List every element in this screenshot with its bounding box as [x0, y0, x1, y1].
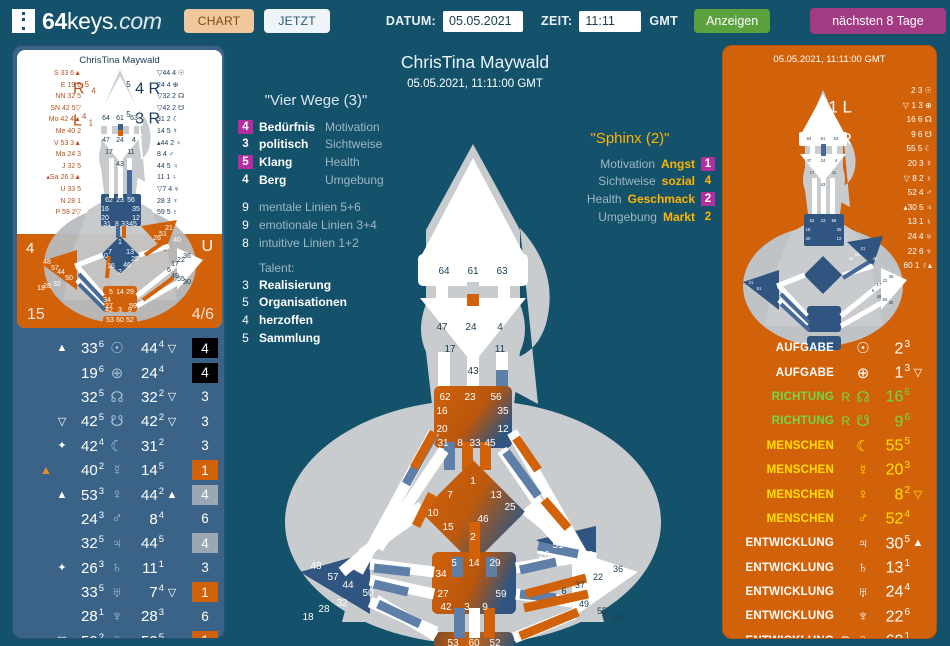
- table-row[interactable]: RICHTUNGR☊166: [733, 385, 926, 409]
- row-planet-glyph: ♅: [850, 584, 876, 601]
- row-planet-glyph: ♄: [104, 559, 130, 576]
- row-right-gate: 422: [130, 412, 164, 430]
- svg-text:17: 17: [171, 261, 179, 268]
- svg-text:42: 42: [105, 307, 113, 314]
- row-label: RICHTUNG: [733, 391, 834, 403]
- row-planet-glyph: ♂: [850, 510, 876, 527]
- table-row[interactable]: 243♂846: [19, 507, 218, 531]
- row-right-marker: ▽: [164, 586, 180, 599]
- svg-text:28: 28: [318, 604, 330, 615]
- row-right-gate: 74: [130, 583, 164, 601]
- left-mini-right-row: ▴44 2 ♀: [157, 138, 217, 150]
- svg-text:55: 55: [597, 606, 607, 616]
- left-chart-profile-right: 5 4 R5 3 R: [126, 72, 160, 133]
- svg-text:9: 9: [482, 602, 488, 613]
- row-planet-glyph: ☋: [850, 412, 876, 430]
- svg-text:23: 23: [116, 197, 124, 204]
- row-left-marker: ▽: [54, 415, 70, 428]
- hexagram-lines-icon: [12, 9, 35, 33]
- table-row[interactable]: ENTWICKLUNG♅244: [733, 580, 926, 604]
- svg-text:27: 27: [437, 589, 449, 600]
- right-mini-row: 20 3 ☿: [852, 157, 932, 172]
- svg-text:16: 16: [436, 406, 448, 417]
- left-mini-right-row: 44 5 ♃: [157, 161, 217, 173]
- time-input[interactable]: [579, 11, 641, 32]
- row-left-marker: ✦: [54, 561, 70, 574]
- row-value-box: 3: [192, 387, 218, 407]
- svg-text:47: 47: [436, 322, 448, 333]
- row-right-gate: 445: [130, 534, 164, 552]
- row-label: MENSCHEN: [733, 464, 834, 476]
- svg-text:61: 61: [116, 115, 124, 122]
- svg-text:30: 30: [889, 300, 894, 305]
- row-planet-glyph: ♄: [850, 559, 876, 576]
- row-value-box: 1: [192, 631, 218, 639]
- row-left-marker: ✦: [54, 439, 70, 452]
- svg-text:26: 26: [538, 550, 550, 561]
- left-mini-right-row: 24 4 ⊕: [157, 80, 217, 92]
- table-row[interactable]: ▲336☉444▽4: [19, 336, 218, 360]
- row-left-gate: 336: [70, 339, 104, 357]
- svg-text:2: 2: [470, 532, 476, 543]
- row-pre-marker: ▲: [38, 463, 54, 477]
- logo-text: 64keys.com: [42, 8, 162, 35]
- row-planet-glyph: ♃: [850, 535, 876, 552]
- logo-dim: .com: [113, 8, 162, 34]
- row-label: AUFGABE: [733, 367, 834, 379]
- svg-text:11: 11: [127, 149, 134, 156]
- svg-text:46: 46: [123, 262, 131, 269]
- svg-text:47: 47: [102, 137, 110, 144]
- svg-text:7: 7: [108, 249, 112, 256]
- right-transit-panel: 05.05.2021, 11:11:00 GMT: [722, 45, 937, 639]
- left-mini-right-row: 14 5 ☿: [157, 126, 217, 138]
- row-retrograde-marker: R: [834, 390, 850, 404]
- svg-text:30: 30: [613, 612, 623, 622]
- row-left-gate: 243: [70, 510, 104, 528]
- left-mini-right-row: ▽32 2 ☊: [157, 91, 217, 103]
- row-right-gate: 244: [130, 364, 164, 382]
- svg-text:5: 5: [109, 289, 113, 296]
- svg-text:13: 13: [126, 249, 134, 256]
- row-planet-glyph: ☾: [850, 437, 876, 455]
- logo-light: keys: [67, 8, 113, 34]
- table-row[interactable]: RICHTUNGR☋96: [733, 409, 926, 433]
- svg-text:23: 23: [821, 218, 826, 223]
- chart-tab-button[interactable]: CHART: [184, 9, 255, 33]
- row-planet-glyph: ☊: [850, 388, 876, 406]
- svg-text:35: 35: [497, 406, 509, 417]
- svg-text:14: 14: [116, 289, 124, 296]
- left-planet-table: ▲336☉444▽4196⊕2444325☊322▽3▽425☋422▽3✦42…: [13, 336, 224, 639]
- row-planet-glyph: ☾: [104, 437, 130, 455]
- row-value-box: 3: [192, 436, 218, 456]
- row-arrow-marker: ▲: [910, 537, 926, 549]
- svg-text:60: 60: [468, 638, 480, 646]
- svg-text:12: 12: [837, 236, 842, 241]
- left-chart-corner-bottom-right: 4/6: [192, 306, 214, 324]
- row-gate: 23: [876, 339, 910, 358]
- row-value-box: 1: [192, 460, 218, 480]
- svg-text:31: 31: [103, 221, 111, 228]
- svg-text:2: 2: [118, 269, 122, 276]
- row-gate: 166: [876, 387, 910, 406]
- row-label: AUFGABE: [733, 342, 834, 354]
- left-mini-left-row: J 32 5: [23, 161, 81, 173]
- svg-text:56: 56: [127, 197, 135, 204]
- row-right-gate: 111: [130, 559, 164, 577]
- table-row[interactable]: AUFGABE☉23: [733, 336, 926, 360]
- svg-text:11: 11: [495, 344, 506, 355]
- svg-text:20: 20: [436, 424, 448, 435]
- svg-text:37: 37: [575, 580, 585, 590]
- svg-text:36: 36: [889, 274, 894, 279]
- table-row[interactable]: 281♆2836: [19, 604, 218, 628]
- left-mini-right-row: ▽44 4 ☉: [157, 68, 217, 80]
- right-mini-row: 60 1 ♇▴: [852, 259, 932, 274]
- row-label: MENSCHEN: [733, 489, 834, 501]
- svg-text:45: 45: [129, 221, 137, 228]
- svg-text:11: 11: [832, 170, 837, 175]
- svg-text:31: 31: [437, 438, 449, 449]
- table-row[interactable]: ✦263♄1113: [19, 556, 218, 580]
- right-mini-row: ▴30 5 ♃: [852, 201, 932, 216]
- svg-text:43: 43: [467, 366, 479, 377]
- svg-text:17: 17: [444, 344, 456, 355]
- table-row[interactable]: ENTWICKLUNG♆226: [733, 604, 926, 628]
- svg-text:42: 42: [440, 602, 452, 613]
- table-row[interactable]: ▲402☿1451: [19, 458, 218, 482]
- svg-text:12: 12: [497, 424, 509, 435]
- table-row[interactable]: ▽592♇5951: [19, 629, 218, 639]
- svg-text:35: 35: [132, 206, 140, 213]
- right-planet-table: AUFGABE☉23AUFGABE⊕13▽RICHTUNGR☊166RICHTU…: [723, 336, 936, 639]
- row-left-marker: ▽: [54, 634, 70, 639]
- svg-text:21: 21: [749, 280, 754, 285]
- svg-text:33: 33: [469, 438, 481, 449]
- svg-text:29: 29: [489, 558, 501, 569]
- svg-text:32: 32: [336, 598, 348, 609]
- row-gate: 82: [876, 485, 910, 504]
- svg-text:13: 13: [490, 490, 502, 501]
- svg-text:52: 52: [126, 317, 134, 324]
- svg-text:26: 26: [153, 235, 161, 242]
- table-row[interactable]: 325♃4454: [19, 531, 218, 555]
- svg-text:36: 36: [613, 564, 623, 574]
- row-label: ENTWICKLUNG: [733, 586, 834, 598]
- svg-text:17: 17: [105, 149, 113, 156]
- row-right-marker: ▲: [164, 489, 180, 501]
- row-value-box: 4: [192, 533, 218, 553]
- table-row[interactable]: AUFGABE⊕13▽: [733, 360, 926, 384]
- right-profile-row: 6 4 R: [816, 122, 852, 154]
- right-mini-row: 13 1 ♄: [852, 215, 932, 230]
- table-row[interactable]: MENSCHEN☾555: [733, 434, 926, 458]
- right-mini-row: ▽ 8 2 ♀: [852, 172, 932, 187]
- svg-text:17: 17: [810, 170, 815, 175]
- date-input[interactable]: [443, 11, 523, 32]
- svg-text:5: 5: [451, 558, 457, 569]
- row-right-gate: 145: [130, 461, 164, 479]
- row-label: ENTWICKLUNG: [733, 610, 834, 622]
- row-gate: 96: [876, 412, 910, 431]
- table-row[interactable]: MENSCHEN☿203: [733, 458, 926, 482]
- row-value-box: 4: [192, 338, 218, 358]
- row-value-box: 6: [192, 606, 218, 626]
- svg-text:25: 25: [504, 502, 516, 513]
- row-planet-glyph: ☋: [104, 412, 130, 430]
- row-planet-glyph: ☉: [850, 339, 876, 357]
- svg-text:49: 49: [877, 294, 882, 299]
- anzeigen-button[interactable]: Anzeigen: [694, 9, 770, 33]
- svg-text:40: 40: [173, 237, 181, 244]
- row-left-gate: 335: [70, 583, 104, 601]
- svg-text:62: 62: [810, 218, 815, 223]
- svg-text:61: 61: [467, 266, 479, 277]
- next-8-days-button[interactable]: nächsten 8 Tage: [810, 8, 946, 34]
- svg-text:16: 16: [101, 206, 109, 213]
- row-gate: 203: [876, 460, 910, 479]
- table-row[interactable]: ENTWICKLUNG♄131: [733, 556, 926, 580]
- svg-text:10: 10: [427, 508, 439, 519]
- logo[interactable]: 64keys.com: [12, 8, 162, 35]
- row-label: ENTWICKLUNG: [733, 537, 834, 549]
- svg-text:29: 29: [126, 289, 134, 296]
- svg-text:50: 50: [362, 588, 374, 599]
- table-row[interactable]: ENTWICKLUNGR♇601: [733, 629, 926, 639]
- row-right-gate: 442: [130, 486, 164, 504]
- row-label: ENTWICKLUNG: [733, 562, 834, 574]
- row-left-gate: 281: [70, 607, 104, 625]
- right-mini-row: 2 3 ☉: [852, 84, 932, 99]
- row-left-gate: 263: [70, 559, 104, 577]
- row-gate: 305: [876, 534, 910, 553]
- table-row[interactable]: 335♅74▽1: [19, 580, 218, 604]
- svg-text:43: 43: [821, 182, 826, 187]
- svg-text:22: 22: [593, 572, 603, 582]
- row-left-marker: ▲: [54, 489, 70, 501]
- row-planet-glyph: ♅: [104, 584, 130, 601]
- row-value-box: 6: [192, 509, 218, 529]
- svg-text:50: 50: [65, 275, 73, 282]
- jetzt-tab-button[interactable]: JETZT: [264, 9, 330, 33]
- left-profile-row-right: 5 3 R: [126, 102, 160, 132]
- row-planet-glyph: ♃: [104, 535, 130, 552]
- svg-text:8: 8: [457, 438, 463, 449]
- svg-text:7: 7: [447, 490, 453, 501]
- row-planet-glyph: ♆: [850, 608, 876, 625]
- left-mini-left-row: P 59 2▽: [23, 207, 81, 219]
- svg-text:10: 10: [100, 253, 108, 260]
- row-value-box: 4: [192, 363, 218, 383]
- svg-text:21: 21: [564, 530, 576, 541]
- row-retrograde-marker: R: [834, 634, 850, 639]
- logo-bold: 64: [42, 8, 67, 34]
- svg-text:51: 51: [757, 286, 762, 291]
- right-mini-row: 52 4 ♂: [852, 186, 932, 201]
- row-left-gate: 402: [70, 461, 104, 479]
- left-chart-panel: ChrisTina Maywald: [12, 45, 225, 639]
- row-planet-glyph: ⊕: [850, 364, 876, 382]
- right-mini-row: 9 6 ☋: [852, 128, 932, 143]
- main-bodygraph-svg: 646163 47244 1711 43 362237 6495530 6223…: [238, 102, 708, 646]
- row-gate: 601: [876, 631, 910, 639]
- row-left-gate: 592: [70, 632, 104, 639]
- row-gate: 131: [876, 558, 910, 577]
- row-planet-glyph: ☊: [104, 388, 130, 406]
- row-planet-glyph: ♆: [104, 608, 130, 625]
- table-row[interactable]: ▽425☋422▽3: [19, 409, 218, 433]
- row-right-marker: ▽: [164, 415, 180, 428]
- svg-text:15: 15: [107, 263, 115, 270]
- left-mini-left-row: N 28 1: [23, 196, 81, 208]
- right-profile-row: 3 1 L: [816, 90, 852, 122]
- right-mini-row: ▽ 1 3 ⊕: [852, 99, 932, 114]
- svg-text:56: 56: [490, 392, 502, 403]
- svg-text:62: 62: [439, 392, 451, 403]
- svg-text:25: 25: [131, 256, 139, 263]
- left-mini-right-row: 11 1 ♄: [157, 172, 217, 184]
- svg-text:32: 32: [53, 281, 61, 288]
- svg-text:48: 48: [43, 259, 51, 266]
- svg-text:46: 46: [477, 514, 489, 525]
- left-profile-row: L4 1: [73, 104, 96, 136]
- row-gate: 244: [876, 582, 910, 601]
- svg-text:44: 44: [57, 269, 65, 276]
- right-mini-row: 22 6 ♆: [852, 245, 932, 260]
- svg-text:30: 30: [183, 279, 191, 286]
- table-row[interactable]: ▲533♀442▲4: [19, 482, 218, 506]
- row-gate: 226: [876, 607, 910, 626]
- left-chart-corner-top-left: 4: [26, 240, 34, 257]
- row-gate: 13: [876, 363, 910, 382]
- left-mini-left-row: Ma 24 3: [23, 149, 81, 161]
- svg-text:17: 17: [877, 282, 882, 287]
- svg-text:6: 6: [561, 586, 566, 596]
- row-left-gate: 325: [70, 388, 104, 406]
- left-mini-bodygraph[interactable]: ChrisTina Maywald: [17, 50, 222, 328]
- left-profile-row-right: 5 4 R: [126, 72, 160, 102]
- table-row[interactable]: MENSCHEN♂524: [733, 507, 926, 531]
- time-label: ZEIT:: [541, 14, 572, 28]
- left-chart-corner-bottom-left: 15: [27, 306, 45, 324]
- svg-text:14: 14: [468, 558, 480, 569]
- row-planet-glyph: ☿: [850, 462, 876, 479]
- left-mini-right-row: ▽7 4 ♅: [157, 184, 217, 196]
- table-row[interactable]: ENTWICKLUNG♃305▲: [733, 531, 926, 555]
- svg-text:44: 44: [342, 580, 354, 591]
- left-chart-profile-left: R5 4L4 1: [73, 72, 96, 137]
- svg-text:60: 60: [116, 317, 124, 324]
- right-chart-profile: 3 1 L6 4 R: [816, 90, 852, 153]
- svg-text:4: 4: [497, 322, 503, 333]
- svg-text:62: 62: [105, 197, 113, 204]
- row-planet-glyph: ♀: [104, 486, 130, 503]
- row-label: MENSCHEN: [733, 440, 834, 452]
- left-mini-left-row: V 53 3▲: [23, 138, 81, 150]
- row-arrow-marker: ▽: [910, 488, 926, 501]
- row-right-marker: ▽: [164, 390, 180, 403]
- svg-text:20: 20: [806, 236, 811, 241]
- table-row[interactable]: 196⊕2444: [19, 360, 218, 384]
- row-gate: 555: [876, 436, 910, 455]
- row-label: ENTWICKLUNG: [733, 635, 834, 639]
- svg-text:34: 34: [435, 569, 447, 580]
- table-row[interactable]: ✦424☾3123: [19, 434, 218, 458]
- svg-text:56: 56: [832, 218, 837, 223]
- row-left-gate: 196: [70, 364, 104, 382]
- row-right-gate: 322: [130, 388, 164, 406]
- svg-text:23: 23: [464, 392, 476, 403]
- row-planet-glyph: ♂: [104, 510, 130, 527]
- row-gate: 524: [876, 509, 910, 528]
- svg-text:4: 4: [132, 137, 136, 144]
- svg-text:18: 18: [302, 612, 314, 623]
- svg-text:3: 3: [464, 602, 470, 613]
- svg-text:24: 24: [465, 322, 477, 333]
- row-planet-glyph: ♇: [104, 632, 130, 639]
- svg-text:43: 43: [116, 161, 124, 168]
- svg-text:51: 51: [552, 540, 564, 551]
- svg-text:53: 53: [447, 638, 459, 646]
- row-right-gate: 312: [130, 437, 164, 455]
- svg-text:57: 57: [327, 572, 339, 583]
- table-row[interactable]: MENSCHEN♀82▽: [733, 482, 926, 506]
- row-right-gate: 595: [130, 632, 164, 639]
- row-planet-glyph: ☿: [104, 462, 130, 479]
- right-chart-mini-column: 2 3 ☉▽ 1 3 ⊕16 6 ☊9 6 ☋55 5 ☾20 3 ☿▽ 8 2…: [852, 84, 932, 274]
- svg-text:16: 16: [806, 227, 811, 232]
- row-left-marker: ▲: [54, 342, 70, 354]
- left-mini-right-row: 28 3 ♆: [157, 196, 217, 208]
- svg-text:8: 8: [115, 221, 119, 228]
- row-value-box: 1: [192, 582, 218, 602]
- svg-text:33: 33: [121, 221, 129, 228]
- svg-text:64: 64: [807, 136, 812, 141]
- row-planet-glyph: ⊕: [104, 364, 130, 382]
- svg-text:24: 24: [116, 137, 124, 144]
- row-right-gate: 283: [130, 607, 164, 625]
- app-header: 64keys.com CHART JETZT DATUM: ZEIT: GMT …: [0, 0, 950, 42]
- page-title: ChrisTina Maywald: [240, 52, 710, 73]
- row-planet-glyph: ♇: [850, 632, 876, 639]
- svg-text:52: 52: [489, 638, 501, 646]
- left-mini-right-row: 31 2 ☾: [157, 114, 217, 126]
- row-value-box: 4: [192, 485, 218, 505]
- svg-text:64: 64: [102, 115, 110, 122]
- left-mini-left-row: U 33 5: [23, 184, 81, 196]
- row-retrograde-marker: R: [834, 414, 850, 428]
- row-right-gate: 84: [130, 510, 164, 528]
- row-left-gate: 424: [70, 437, 104, 455]
- table-row[interactable]: 325☊322▽3: [19, 385, 218, 409]
- left-profile-row: R5 4: [73, 72, 96, 104]
- left-chart-corner-top-right: U: [201, 238, 213, 256]
- row-value-box: 3: [192, 411, 218, 431]
- left-mini-right-row: ▽42 2 ☋: [157, 103, 217, 115]
- left-chart-mini-right-column: ▽44 4 ☉24 4 ⊕▽32 2 ☊▽42 2 ☋31 2 ☾14 5 ☿▴…: [157, 68, 217, 219]
- date-label: DATUM:: [386, 14, 436, 28]
- svg-text:40: 40: [582, 550, 594, 561]
- row-arrow-marker: ▽: [910, 366, 926, 379]
- svg-text:1: 1: [470, 476, 476, 487]
- main-bodygraph[interactable]: 646163 47244 1711 43 362237 6495530 6223…: [238, 102, 708, 646]
- right-mini-row: 24 4 ♅: [852, 230, 932, 245]
- svg-text:55: 55: [883, 297, 888, 302]
- svg-text:15: 15: [442, 522, 454, 533]
- row-label: MENSCHEN: [733, 513, 834, 525]
- left-mini-right-row: 8 4 ♂: [157, 149, 217, 161]
